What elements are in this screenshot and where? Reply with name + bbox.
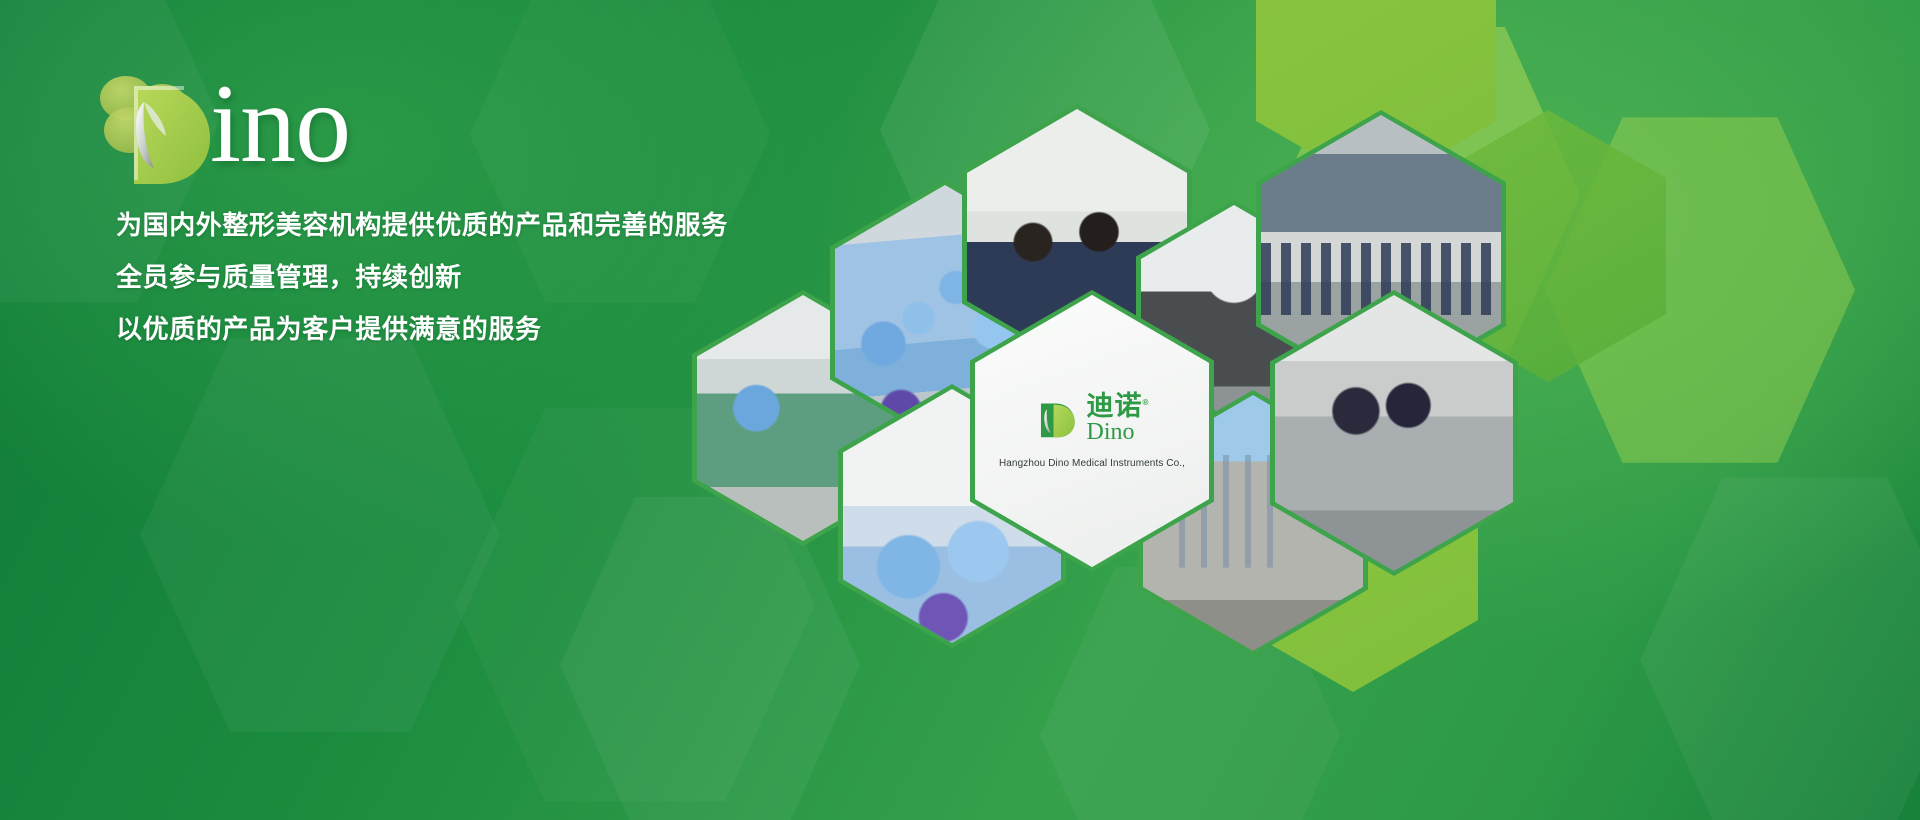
tagline-group: 为国内外整形美容机构提供优质的产品和完善的服务 全员参与质量管理，持续创新 以优…: [116, 212, 728, 368]
dino-leaf-icon: [1035, 397, 1078, 443]
card-logo-row: 迪诺® Dino: [1035, 393, 1150, 445]
tagline-2: 全员参与质量管理，持续创新: [116, 264, 728, 290]
card-brand-en: Dino: [1087, 420, 1135, 445]
photo-collage: 迪诺® Dino Hangzhou Dino Medical Instrumen…: [640, 0, 1920, 820]
leaf-page-curl-icon: [92, 72, 222, 184]
card-brand-cn: 迪诺®: [1087, 393, 1150, 420]
company-banner: ino 为国内外整形美容机构提供优质的产品和完善的服务 全员参与质量管理，持续创…: [0, 0, 1920, 820]
registered-mark: ®: [1143, 398, 1150, 407]
card-wordmark: 迪诺® Dino: [1087, 393, 1150, 445]
tagline-1: 为国内外整形美容机构提供优质的产品和完善的服务: [116, 212, 728, 238]
tagline-3: 以优质的产品为客户提供满意的服务: [116, 316, 728, 342]
logo-wordmark: ino: [210, 68, 350, 180]
card-company-line: Hangzhou Dino Medical Instruments Co.,: [999, 458, 1185, 469]
dino-logo: ino: [92, 72, 432, 184]
